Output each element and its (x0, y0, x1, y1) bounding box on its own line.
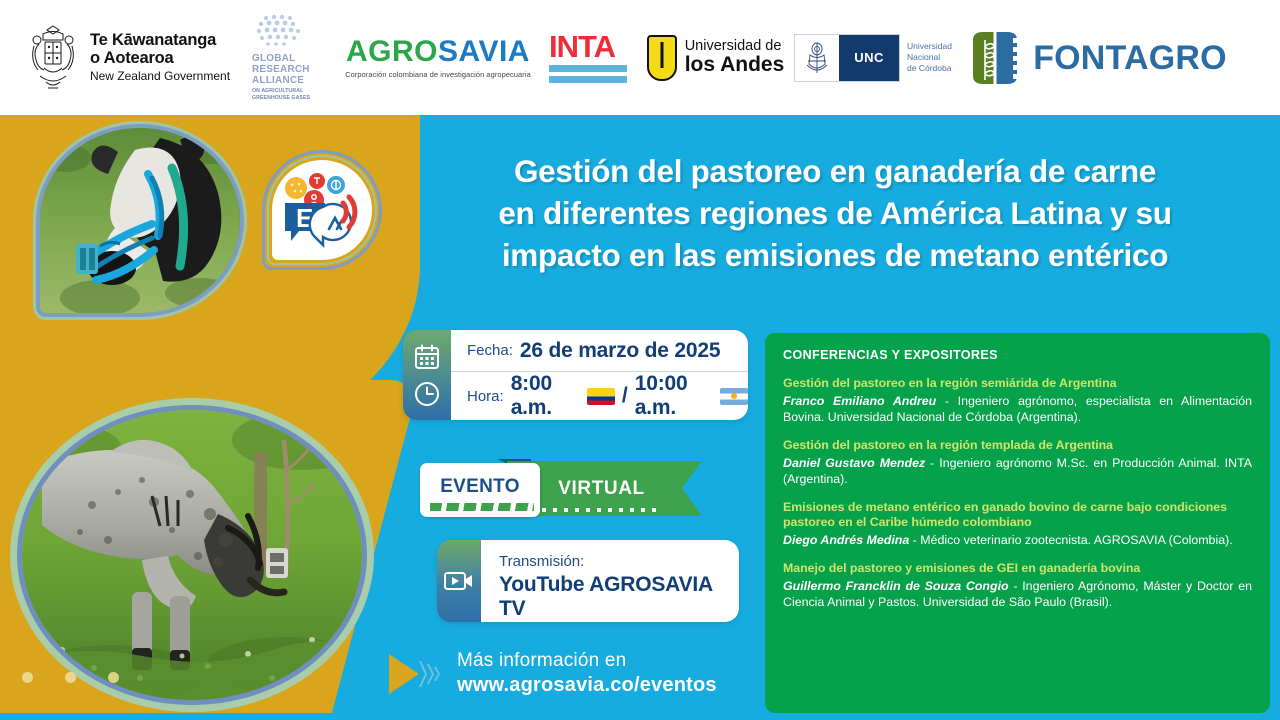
broadcast-card[interactable]: Transmisión: YouTube AGROSAVIA TV (437, 540, 739, 622)
ribbon-dash-strip (430, 503, 534, 511)
ribbon-evento-label: EVENTO (440, 476, 520, 498)
talk-bio: - Médico veterinario zootecnista. AGROSA… (909, 533, 1232, 547)
talk-item: Gestión del pastoreo en la región semiár… (783, 376, 1252, 425)
time-argentina: 10:00 a.m. (635, 372, 713, 420)
fontagro-mark-icon (969, 30, 1021, 86)
date-time-card: Fecha: 26 de marzo de 2025 Hora: 8:00 a.… (403, 330, 748, 420)
broadcast-label: Transmisión: (499, 553, 739, 570)
unc-line1: Universidad (907, 41, 952, 52)
logo-universidad-nacional-de-cordoba: UNC Universidad Nacional de Córdoba (793, 18, 953, 98)
dot-3 (108, 672, 119, 683)
date-time-icon-column (403, 330, 451, 420)
logo-universidad-de-los-andes: Universidad de los Andes (638, 18, 793, 98)
unc-abbr: UNC (839, 35, 899, 81)
talk-title: Manejo del pastoreo y emisiones de GEI e… (783, 561, 1252, 577)
talk-title: Emisiones de metano entérico en ganado b… (783, 500, 1252, 531)
gra-sub1: ON AGRICULTURAL (252, 88, 303, 94)
video-camera-icon (444, 570, 474, 592)
date-value: 26 de marzo de 2025 (520, 339, 720, 363)
gra-line1: GLOBAL (252, 53, 295, 64)
event-poster: Te Kāwanatangao Aotearoa New Zealand Gov… (0, 0, 1280, 720)
event-title: Gestión del pastoreo en ganadería de car… (410, 150, 1260, 277)
argentina-flag-icon (720, 388, 748, 405)
talk-speaker: Franco Emiliano Andreu (783, 394, 936, 408)
unc-crest-icon (795, 35, 839, 81)
logo-agrosavia: AGROSAVIA Corporación colombiana de inve… (338, 18, 538, 98)
decorative-dots (22, 672, 119, 683)
fontagro-word: FONTAGRO (1033, 41, 1227, 75)
inta-word: INTA (549, 32, 627, 61)
colombia-flag-icon (587, 388, 615, 405)
talk-speaker: Diego Andrés Medina (783, 533, 909, 547)
logo-new-zealand-government: Te Kāwanatangao Aotearoa New Zealand Gov… (18, 18, 238, 98)
dot-1 (22, 672, 33, 683)
andes-line1: Universidad de (685, 39, 785, 54)
program-heading: CONFERENCIAS Y EXPOSITORES (783, 348, 1252, 362)
play-triangle-icon (385, 651, 443, 697)
ribbon-virtual-label: VIRTUAL (558, 478, 645, 500)
eq-program-logo: E (262, 150, 382, 270)
talk-speaker: Daniel Gustavo Mendez (783, 456, 925, 470)
unc-line3: de Córdoba (907, 63, 952, 74)
gra-globe-dots-icon (252, 14, 324, 48)
clock-icon (414, 381, 440, 407)
talk-speaker: Guillermo Francklin de Souza Congio (783, 579, 1009, 593)
unc-line2: Nacional (907, 52, 952, 63)
grazing-bull-photo (22, 410, 362, 700)
more-info-url[interactable]: www.agrosavia.co/eventos (457, 674, 717, 697)
time-colombia: 8:00 a.m. (511, 372, 580, 420)
gra-line2: RESEARCH (252, 64, 310, 75)
evento-virtual-ribbon: VIRTUAL EVENTO (412, 459, 702, 521)
event-title-line-1: Gestión del pastoreo en ganadería de car… (410, 150, 1260, 192)
inta-bar-1 (549, 65, 627, 72)
more-info-line1: Más información en (457, 650, 717, 672)
talk-speaker-line: Diego Andrés Medina - Médico veterinario… (783, 532, 1252, 548)
andes-line2: los Andes (685, 54, 785, 75)
time-label: Hora: (467, 388, 504, 405)
dot-2 (65, 672, 76, 683)
gra-sub2: GREENHOUSE GASES (252, 95, 310, 101)
sponsor-logo-bar: Te Kāwanatangao Aotearoa New Zealand Gov… (0, 0, 1280, 115)
date-row: Fecha: 26 de marzo de 2025 (451, 330, 748, 371)
broadcast-channel: YouTube AGROSAVIA TV (499, 573, 739, 621)
logo-global-research-alliance: GLOBAL RESEARCH ALLIANCE ON AGRICULTURAL… (238, 18, 338, 98)
talk-speaker-line: Franco Emiliano Andreu - Ingeniero agrón… (783, 393, 1252, 425)
broadcast-icon-column (437, 540, 481, 622)
date-label: Fecha: (467, 342, 513, 359)
agrosavia-word-green: AGRO (346, 35, 438, 68)
program-panel: CONFERENCIAS Y EXPOSITORES Gestión del p… (765, 333, 1270, 713)
nz-logo-line2: o Aotearoa (90, 49, 174, 67)
cow-mask-photo (40, 128, 240, 313)
logo-inta: INTA (538, 18, 638, 98)
nz-coat-of-arms-icon (26, 22, 80, 94)
ribbon-dot-line (542, 508, 660, 512)
talk-title: Gestión del pastoreo en la región templa… (783, 438, 1252, 454)
talk-speaker-line: Daniel Gustavo Mendez - Ingeniero agróno… (783, 455, 1252, 487)
uniandes-shield-icon (647, 35, 677, 81)
event-title-line-3: impacto en las emisiones de metano entér… (410, 234, 1260, 276)
talk-item: Manejo del pastoreo y emisiones de GEI e… (783, 561, 1252, 610)
agrosavia-word-blue: SAVIA (438, 35, 530, 68)
agrosavia-tagline: Corporación colombiana de investigación … (345, 70, 531, 79)
talk-item: Gestión del pastoreo en la región templa… (783, 438, 1252, 487)
gra-line3: ALLIANCE (252, 75, 304, 86)
logo-fontagro: FONTAGRO (953, 18, 1243, 98)
eq-logo-icon: E (279, 171, 365, 249)
talk-speaker-line: Guillermo Francklin de Souza Congio - In… (783, 578, 1252, 610)
talk-title: Gestión del pastoreo en la región semiár… (783, 376, 1252, 392)
bottom-cyan-strip (0, 713, 1280, 720)
inta-bar-2 (549, 76, 627, 83)
talk-item: Emisiones de metano entérico en ganado b… (783, 500, 1252, 548)
more-info-block[interactable]: Más información en www.agrosavia.co/even… (385, 650, 717, 697)
nz-logo-line1: Te Kāwanatanga (90, 31, 216, 49)
calendar-icon (414, 344, 440, 370)
time-separator: / (622, 384, 628, 408)
event-title-line-2: en diferentes regiones de América Latina… (410, 192, 1260, 234)
nz-logo-line3: New Zealand Government (90, 70, 230, 83)
time-row: Hora: 8:00 a.m. / 10:00 a.m. (451, 371, 748, 420)
